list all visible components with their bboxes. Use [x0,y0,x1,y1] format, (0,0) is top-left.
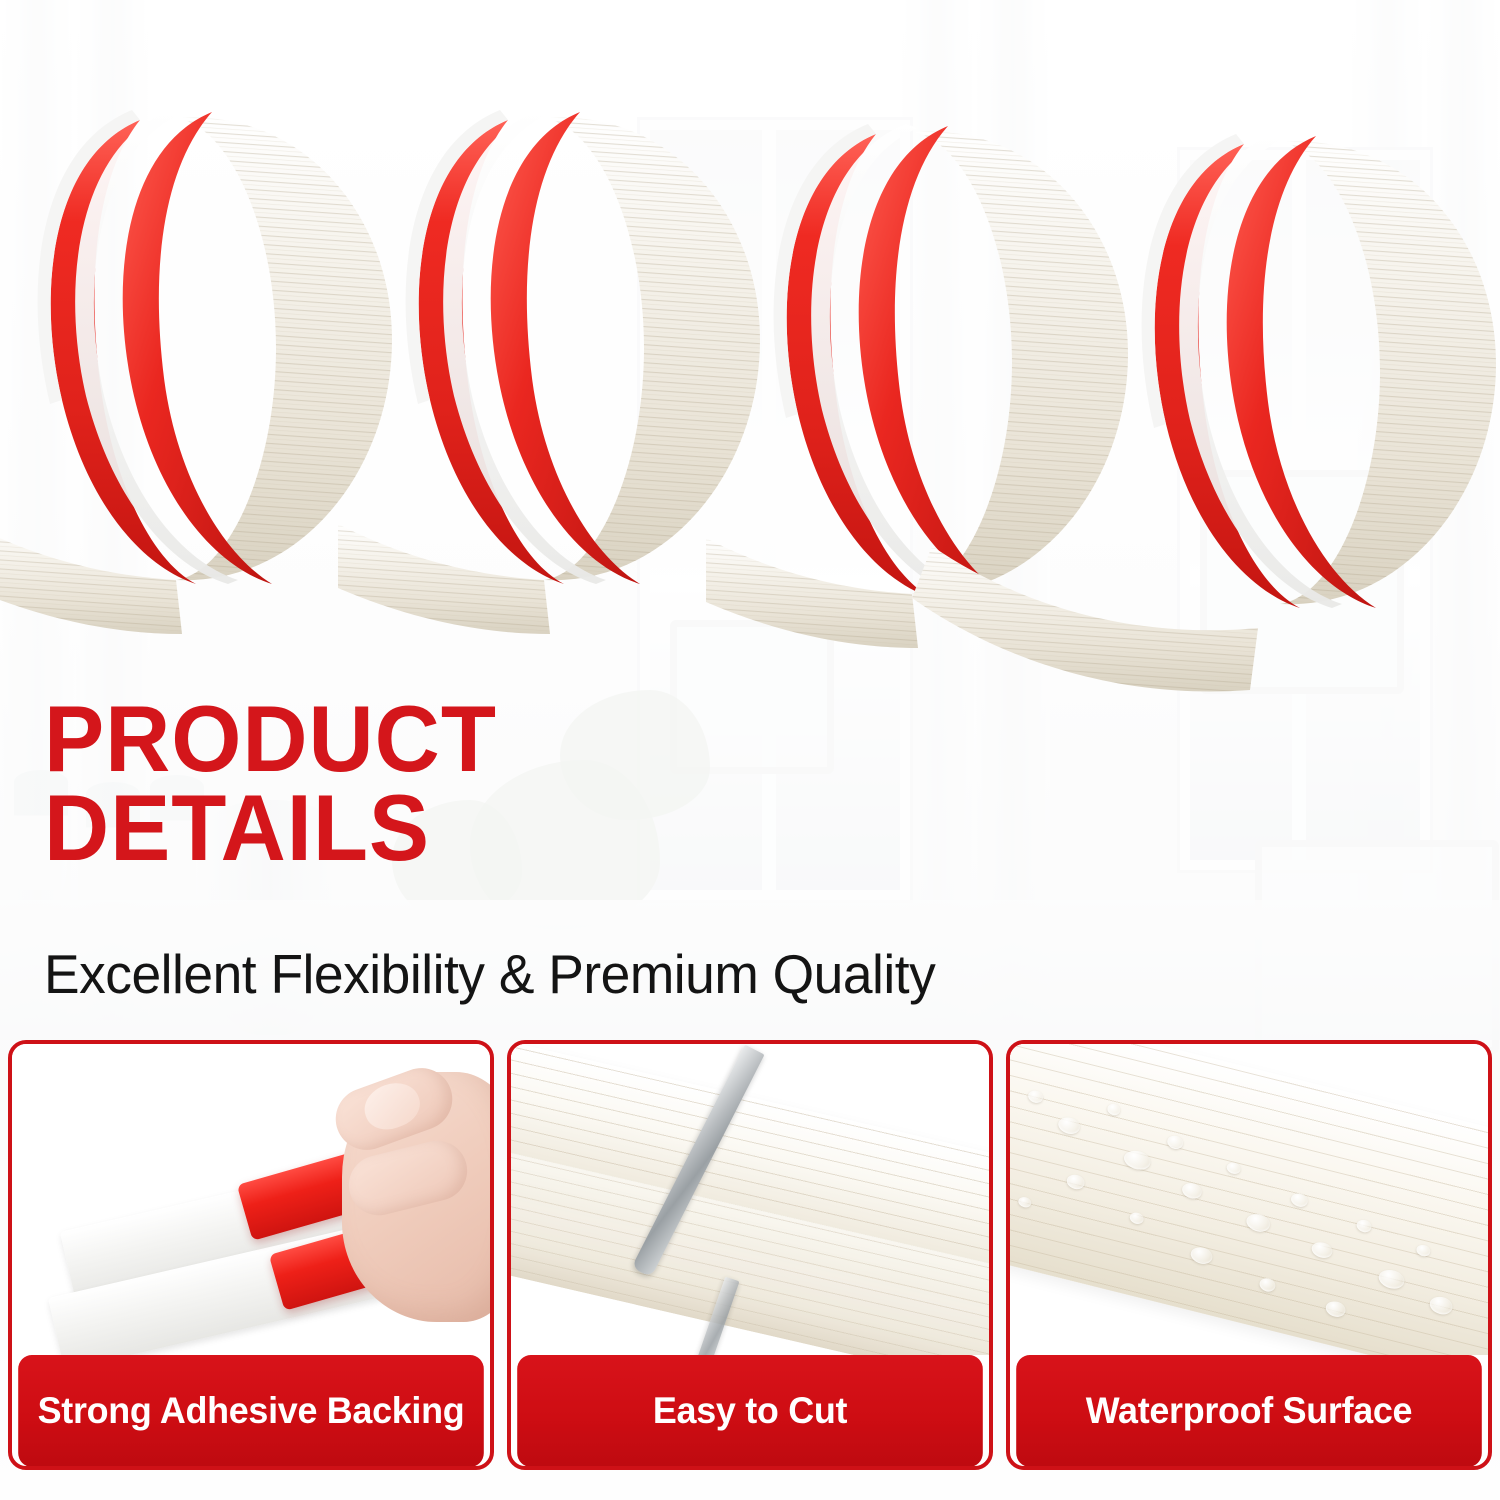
water-droplet [1310,1240,1334,1260]
adhesive-backing-photo [12,1044,490,1355]
water-droplet [1189,1245,1214,1266]
water-droplet [1415,1244,1431,1258]
water-droplet [1355,1218,1372,1233]
coil-loop-2 [338,110,760,634]
water-droplet [1290,1192,1310,1209]
waterproof-surface-photo [1010,1044,1488,1355]
water-droplet [1122,1148,1153,1172]
coil-loop-3 [706,124,1128,648]
water-droplet [1226,1161,1242,1175]
water-droplet [1166,1134,1185,1150]
feature-panels: Strong Adhesive Backing Easy to Cut [8,1040,1492,1470]
water-droplet [1324,1299,1347,1318]
water-droplet [1017,1196,1032,1209]
water-droplet [1129,1211,1145,1225]
coil-loop-1 [0,110,392,634]
easy-to-cut-photo [511,1044,989,1355]
water-droplet [1180,1181,1203,1200]
water-droplet [1056,1115,1081,1136]
page-title: PRODUCT DETAILS [44,694,774,873]
ribbon-connector [912,546,1258,692]
wood-grain-strip [1010,1044,1488,1355]
feature-panel-waterproof[interactable]: Waterproof Surface [1006,1040,1492,1470]
water-droplet [1065,1173,1086,1191]
water-droplet [1377,1267,1407,1291]
water-droplet [1428,1294,1454,1316]
water-droplet [1258,1277,1277,1293]
coil-loop-4 [1142,134,1496,608]
hero-coil-illustration [0,0,1500,740]
panel-caption-adhesive: Strong Adhesive Backing [18,1355,484,1467]
water-droplet [1244,1212,1271,1234]
water-droplet [1027,1089,1044,1104]
product-details-infographic: PRODUCT DETAILS Excellent Flexibility & … [0,0,1500,1500]
panel-caption-waterproof: Waterproof Surface [1016,1355,1482,1467]
page-subtitle: Excellent Flexibility & Premium Quality [44,942,935,1006]
feature-panel-easy-to-cut[interactable]: Easy to Cut [507,1040,993,1470]
water-droplet [1106,1103,1121,1117]
feature-panel-adhesive[interactable]: Strong Adhesive Backing [8,1040,494,1470]
panel-caption-easy-to-cut: Easy to Cut [517,1355,983,1467]
